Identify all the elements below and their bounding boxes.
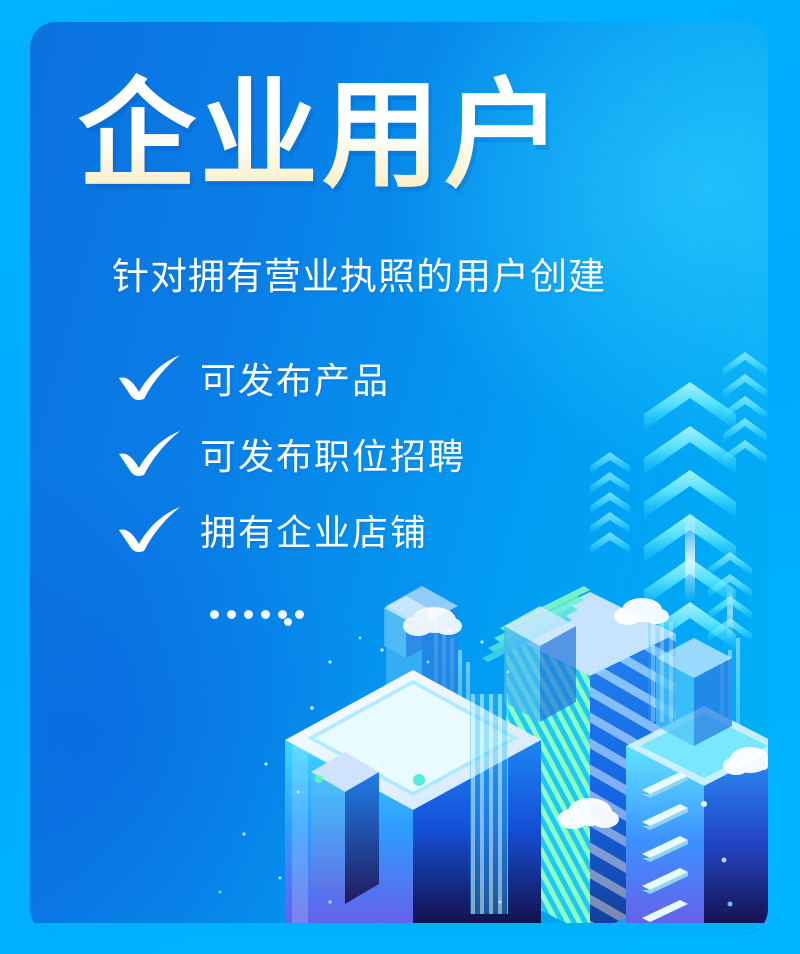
check-icon [114, 352, 186, 404]
background-spires [434, 614, 740, 914]
list-item[interactable]: 可发布职位招聘 [114, 416, 466, 492]
dot [295, 610, 304, 619]
vertical-stripe-block [470, 622, 676, 914]
isometric-tower-right [626, 706, 768, 935]
check-icon [114, 428, 186, 480]
promo-banner: 企业用户 针对拥有营业执照的用户创建 可发布产品 可发布职位招聘 拥有企业店铺 [0, 0, 800, 954]
isometric-tower-left [311, 752, 379, 904]
ellipsis-dots [210, 610, 304, 619]
page-title: 企业用户 [78, 66, 566, 205]
list-item-label: 可发布产品 [200, 352, 390, 404]
isometric-tower-float [504, 606, 576, 722]
dot [210, 610, 219, 619]
list-item[interactable]: 拥有企业店铺 [114, 492, 466, 568]
list-item[interactable]: 可发布产品 [114, 340, 466, 416]
isometric-tower-right-back [656, 638, 732, 746]
isometric-tower-main [285, 670, 541, 935]
check-icon [114, 504, 186, 556]
isometric-tower-small-back [386, 586, 458, 710]
dot [261, 610, 270, 619]
striped-skyscraper [482, 586, 676, 935]
dot [244, 610, 253, 619]
chevron-arrow-stack [590, 352, 767, 650]
cloud [403, 598, 768, 829]
list-item-label: 可发布职位招聘 [200, 428, 466, 480]
list-item-label: 拥有企业店铺 [200, 504, 428, 556]
sparkle-particle [219, 618, 510, 935]
isometric-cube-float [384, 596, 428, 658]
page-subtitle: 针对拥有营业执照的用户创建 [112, 254, 606, 300]
dot [278, 610, 287, 619]
enterprise-user-card[interactable]: 企业用户 针对拥有营业执照的用户创建 可发布产品 可发布职位招聘 拥有企业店铺 [30, 22, 768, 935]
dot [227, 610, 236, 619]
feature-list: 可发布产品 可发布职位招聘 拥有企业店铺 [114, 340, 466, 568]
